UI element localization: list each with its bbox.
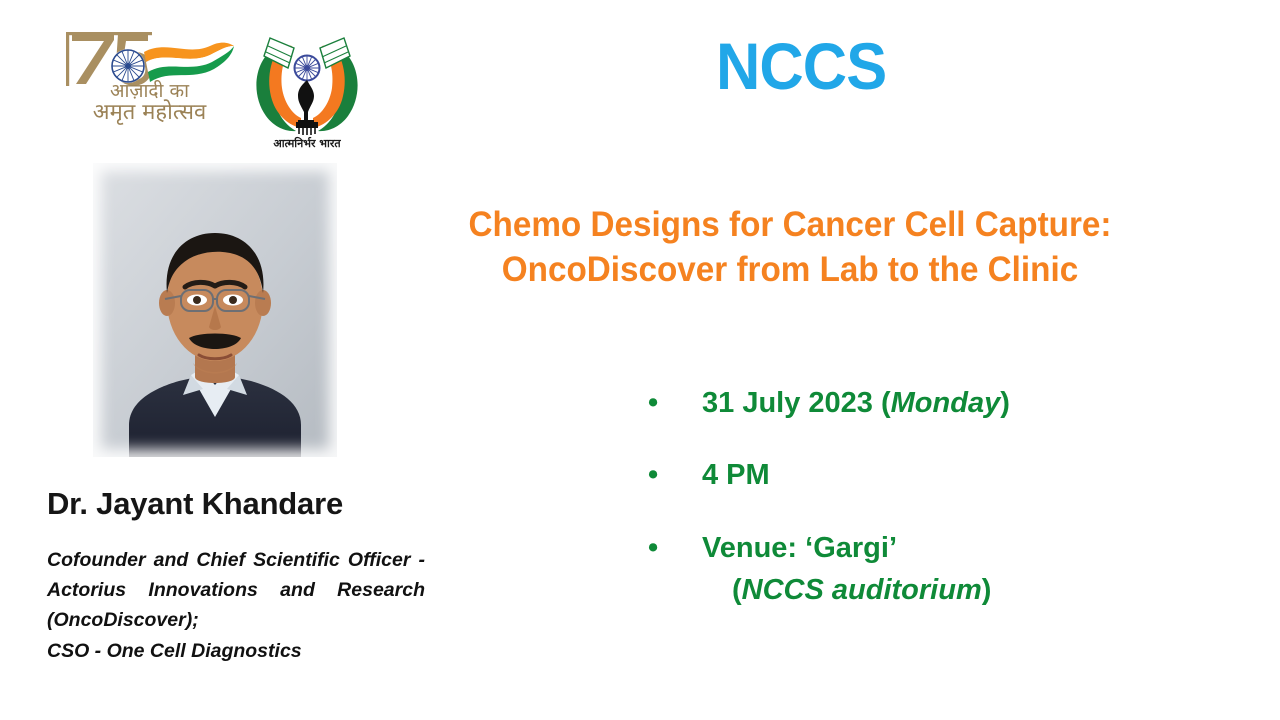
bullet-icon: • [648, 530, 658, 566]
detail-venue-sub-close: ) [982, 574, 992, 606]
azadi-caption-line-2: अमृत महोत्सव [62, 102, 237, 124]
detail-time-text: 4 PM [702, 459, 770, 491]
aatmanirbhar-bharat-emblem-icon [248, 24, 366, 140]
detail-date-emphasis: Monday [891, 387, 1001, 419]
detail-venue-sub-open: ( [732, 574, 742, 606]
detail-date-tail: ) [1000, 387, 1010, 419]
speaker-portrait-illustration [93, 163, 337, 457]
event-details-list: • 31 July 2023 (Monday) • 4 PM • Venue: … [640, 385, 1200, 644]
talk-title: Chemo Designs for Cancer Cell Capture: O… [363, 203, 1218, 293]
government-logos-group: आज़ादी का अमृत महोत्सव [62, 22, 372, 167]
azadi-caption-line-1: आज़ादी का [62, 82, 237, 101]
detail-venue-text: Venue: ‘Gargi’ [702, 532, 897, 564]
detail-venue-sub-emphasis: NCCS auditorium [742, 574, 982, 606]
speaker-photo-image [93, 163, 337, 457]
speaker-photo [93, 163, 337, 457]
bullet-icon: • [648, 385, 658, 421]
azadi-logo-caption: आज़ादी का अमृत महोत्सव [62, 82, 237, 124]
detail-date: • 31 July 2023 (Monday) [640, 385, 1200, 421]
bullet-icon: • [648, 457, 658, 493]
speaker-name: Dr. Jayant Khandare [47, 486, 343, 522]
nccs-logo: NCCS [716, 33, 886, 99]
talk-title-line-2: OncoDiscover from Lab to the Clinic [363, 248, 1218, 293]
detail-venue-subtext: (NCCS auditorium) [732, 572, 1200, 608]
aatmanirbhar-logo-caption: आत्मनिर्भर भारत [248, 136, 366, 151]
detail-venue: • Venue: ‘Gargi’ (NCCS auditorium) [640, 530, 1200, 609]
talk-title-line-1: Chemo Designs for Cancer Cell Capture: [363, 203, 1218, 248]
aatmanirbhar-bharat-logo: आत्मनिर्भर भारत [248, 24, 366, 164]
azadi-ka-amrit-mahotsav-logo: आज़ादी का अमृत महोत्सव [62, 22, 237, 157]
seminar-announcement-slide: आज़ादी का अमृत महोत्सव [0, 0, 1280, 720]
speaker-affiliation-text: Cofounder and Chief Scientific Officer -… [47, 549, 425, 631]
detail-date-text: 31 July 2023 ( [702, 387, 891, 419]
speaker-affiliation-last-line: CSO - One Cell Diagnostics [47, 636, 425, 666]
speaker-affiliation: Cofounder and Chief Scientific Officer -… [47, 545, 425, 666]
detail-time: • 4 PM [640, 457, 1200, 493]
